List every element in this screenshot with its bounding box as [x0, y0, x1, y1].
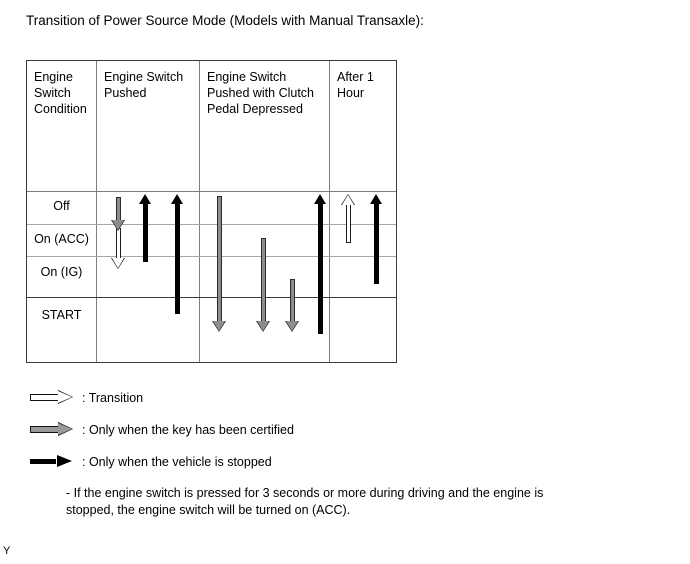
arrow-head: [257, 321, 269, 331]
arrow-shaft: [318, 203, 323, 334]
arrow-shaft: [116, 228, 121, 259]
table-column-divider-3: [329, 61, 330, 362]
arrow-head: [58, 423, 72, 435]
column-header-after-1-hour: After 1 Hour: [337, 69, 397, 101]
table-column-divider-1: [96, 61, 97, 362]
note-text: - If the engine switch is pressed for 3 …: [66, 485, 566, 519]
arrow-head: [370, 194, 382, 204]
arrow-head: [213, 321, 225, 331]
table-column-divider-2: [199, 61, 200, 362]
row-label-start: START: [27, 307, 96, 323]
legend-label-transition: : Transition: [82, 388, 143, 408]
arrow-shaft: [261, 238, 266, 322]
arrow-shaft: [346, 204, 351, 243]
arrow-black-up-start-to-off-clutch: [314, 194, 327, 334]
arrow-shaft: [217, 196, 222, 322]
arrow-head: [314, 194, 326, 204]
arrow-head: [342, 195, 354, 205]
arrow-head: [112, 220, 124, 230]
arrow-black-up-ig-to-off: [139, 194, 152, 262]
arrow-gray-down-acc-to-start: [257, 238, 270, 331]
arrow-head: [58, 391, 72, 403]
corner-mark: Y: [3, 545, 10, 557]
arrow-shaft: [290, 279, 295, 322]
column-header-engine-switch-pushed: Engine Switch Pushed: [104, 69, 196, 101]
arrow-head: [139, 194, 151, 204]
table-row-divider-off: [27, 224, 396, 225]
arrow-shaft: [30, 459, 56, 464]
arrow-shaft: [116, 197, 121, 221]
arrow-shaft: [175, 203, 180, 314]
gray-arrow-icon: [30, 423, 72, 436]
arrow-white-up-acc-to-off: [342, 195, 355, 243]
arrow-head: [57, 455, 72, 467]
column-header-engine-switch-condition: Engine Switch Condition: [34, 69, 94, 117]
table-header-divider: [27, 191, 396, 192]
arrow-head: [286, 321, 298, 331]
arrow-shaft: [374, 203, 379, 284]
power-source-mode-table: Engine Switch Condition Engine Switch Pu…: [26, 60, 397, 363]
arrow-black-up-ig-to-off-after: [370, 194, 383, 284]
arrow-shaft: [30, 426, 58, 433]
arrow-black-up-start-to-off: [171, 194, 184, 314]
row-label-off: Off: [27, 198, 96, 214]
row-label-on-ig: On (IG): [27, 264, 96, 280]
arrow-gray-down-off-to-acc: [112, 197, 125, 230]
arrow-shaft: [143, 203, 148, 262]
page-title: Transition of Power Source Mode (Models …: [26, 12, 424, 30]
arrow-head: [171, 194, 183, 204]
arrow-gray-down-ig-to-start: [286, 279, 299, 331]
arrow-gray-down-off-to-start: [213, 196, 226, 331]
table-row-divider-ig: [27, 297, 396, 298]
white-arrow-icon: [30, 391, 72, 404]
arrow-shaft: [30, 394, 58, 401]
arrow-head: [112, 258, 124, 268]
table-row-divider-acc: [27, 256, 396, 257]
arrow-white-down-acc-to-ig: [112, 228, 125, 268]
legend-label-key-certified: : Only when the key has been certified: [82, 420, 294, 440]
row-label-on-acc: On (ACC): [27, 231, 96, 247]
black-arrow-icon: [30, 455, 72, 468]
column-header-engine-switch-pushed-clutch: Engine Switch Pushed with Clutch Pedal D…: [207, 69, 325, 117]
legend-label-vehicle-stopped: : Only when the vehicle is stopped: [82, 452, 272, 472]
